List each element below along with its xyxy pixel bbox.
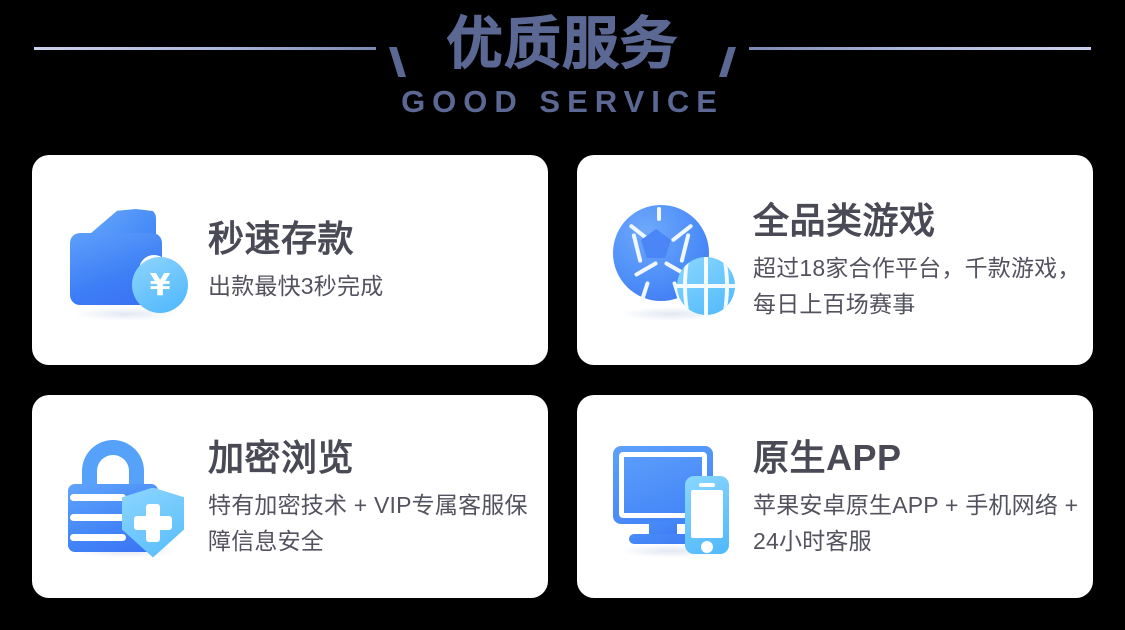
lock-shield-icon: [60, 432, 200, 562]
card-subtitle: 苹果安卓原生APP + 手机网络 + 24小时客服: [753, 487, 1083, 559]
banner-header: 优质服务 GOOD SERVICE: [0, 0, 1125, 140]
feature-card-native-app[interactable]: 原生APP 苹果安卓原生APP + 手机网络 + 24小时客服: [577, 395, 1093, 598]
card-title: 原生APP: [753, 435, 1083, 481]
phone-home-button-icon: [701, 541, 713, 553]
basketball-icon: [677, 257, 735, 315]
page-subtitle: GOOD SERVICE: [401, 84, 724, 120]
card-title: 加密浏览: [208, 435, 538, 481]
soccer-basketball-icon: [605, 195, 745, 325]
phone-speaker-icon: [699, 483, 715, 487]
card-subtitle: 特有加密技术 + VIP专属客服保障信息安全: [208, 487, 538, 559]
card-subtitle: 出款最快3秒完成: [208, 268, 383, 304]
promo-banner: 优质服务 GOOD SERVICE ¥ 秒速存款 出款最快3秒完成: [0, 0, 1125, 630]
feature-card-grid: ¥ 秒速存款 出款最快3秒完成: [32, 155, 1093, 598]
page-title: 优质服务: [447, 8, 679, 82]
card-title: 秒速存款: [208, 216, 383, 262]
phone-screen-icon: [691, 490, 723, 538]
card-subtitle: 超过18家合作平台，千款游戏，每日上百场赛事: [753, 250, 1083, 322]
card-title: 全品类游戏: [753, 198, 1083, 244]
feature-card-encryption[interactable]: 加密浏览 特有加密技术 + VIP专属客服保障信息安全: [32, 395, 548, 598]
cross-icon: [134, 516, 172, 530]
feature-card-games[interactable]: 全品类游戏 超过18家合作平台，千款游戏，每日上百场赛事: [577, 155, 1093, 365]
wallet-coin-icon: ¥: [60, 195, 200, 325]
monitor-phone-icon: [605, 432, 745, 562]
lock-stripe-icon: [70, 494, 126, 501]
yen-coin-icon: ¥: [132, 257, 188, 313]
lock-stripe-icon: [70, 534, 126, 541]
feature-card-deposit[interactable]: ¥ 秒速存款 出款最快3秒完成: [32, 155, 548, 365]
